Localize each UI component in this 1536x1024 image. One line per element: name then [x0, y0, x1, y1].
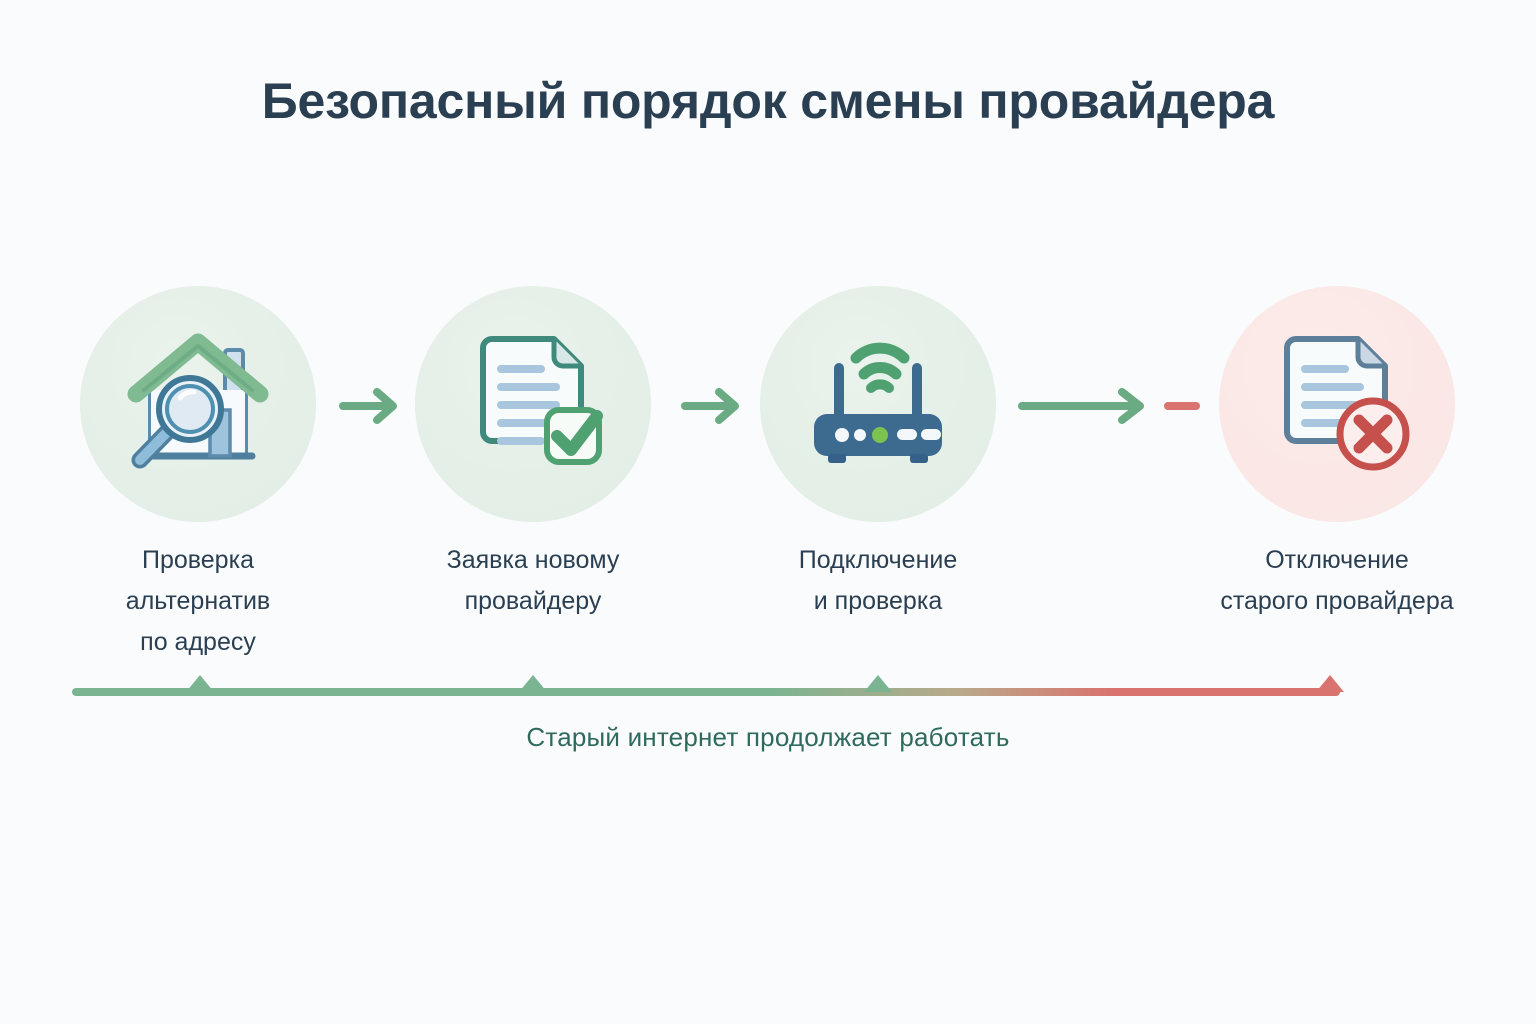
timeline-marker-3 — [864, 675, 892, 692]
timeline-marker-2 — [519, 675, 547, 692]
step-1-label: Проверка альтернатив по адресу — [58, 540, 338, 663]
page-title: Безопасный порядок смены провайдера — [0, 72, 1536, 130]
wifi-router-icon — [798, 324, 958, 484]
step-3[interactable] — [760, 286, 996, 522]
step-2-label-line-2: провайдеру — [393, 581, 673, 622]
step-1-label-line-2: альтернатив — [58, 581, 338, 622]
step-1-label-line-1: Проверка — [58, 540, 338, 581]
labels-row: Проверка альтернатив по адресу Заявка но… — [0, 540, 1536, 660]
connector-arrow-3-with-dash — [1018, 383, 1214, 429]
step-3-label: Подключение и проверка — [738, 540, 1018, 622]
timeline-caption: Старый интернет продолжает работать — [0, 722, 1536, 753]
step-2-label-line-1: Заявка новому — [393, 540, 673, 581]
step-4[interactable] — [1219, 286, 1455, 522]
step-3-label-line-2: и проверка — [738, 581, 1018, 622]
step-2[interactable] — [415, 286, 651, 522]
step-4-label: Отключение старого провайдера — [1145, 540, 1529, 622]
step-1-label-line-3: по адресу — [58, 622, 338, 663]
step-3-label-line-1: Подключение — [738, 540, 1018, 581]
steps-row — [0, 286, 1536, 526]
step-4-label-line-2: старого провайдера — [1145, 581, 1529, 622]
timeline-gradient-bar — [0, 670, 1536, 710]
document-check-icon — [453, 324, 613, 484]
connector-arrow-1 — [339, 383, 409, 429]
house-search-icon — [118, 324, 278, 484]
step-4-label-line-1: Отключение — [1145, 540, 1529, 581]
timeline-marker-4 — [1316, 675, 1344, 692]
document-cancel-icon — [1257, 324, 1417, 484]
infographic-canvas: Безопасный порядок смены провайдера — [0, 0, 1536, 1024]
timeline-marker-1 — [186, 675, 214, 692]
step-2-label: Заявка новому провайдеру — [393, 540, 673, 622]
timeline — [0, 670, 1536, 710]
step-1[interactable] — [80, 286, 316, 522]
connector-arrow-2 — [681, 383, 751, 429]
